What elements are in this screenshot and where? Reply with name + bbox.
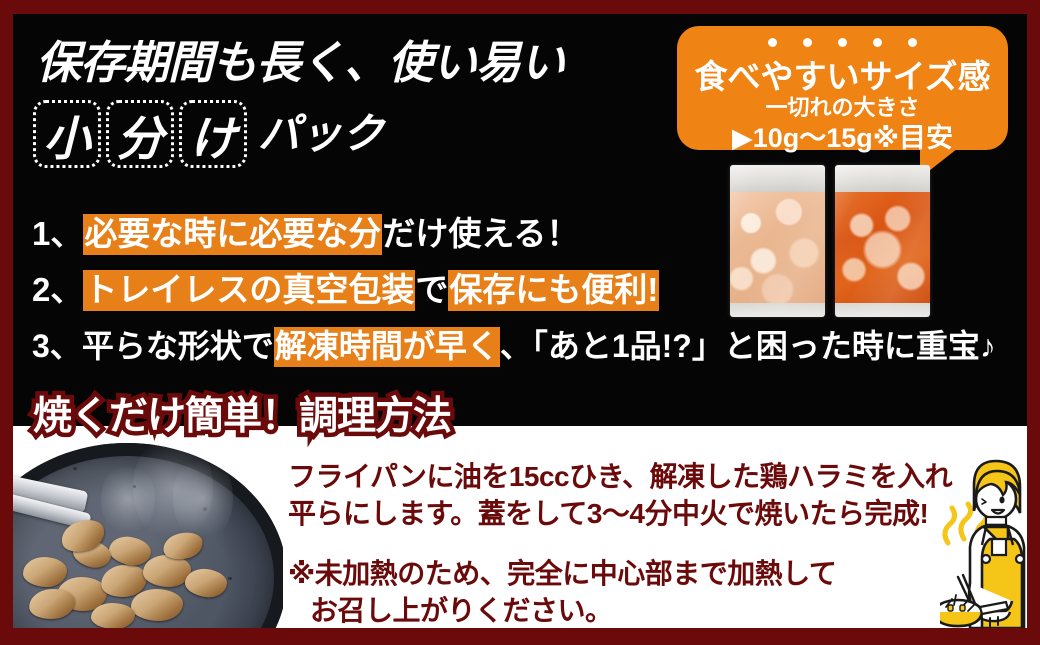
- frame-border-top: [0, 0, 1040, 14]
- bubble-decorative-dots: [677, 38, 1008, 47]
- pan-speck: [73, 467, 77, 470]
- chicken-piece: [91, 603, 135, 628]
- vacuum-pack-spicy: [835, 165, 930, 317]
- cooking-warning-line-1: ※未加熱のため、完全に中心部まで加熱して: [288, 552, 836, 592]
- chicken-piece: [131, 589, 183, 621]
- chicken-piece: [23, 557, 67, 587]
- benefit-3-highlight: 解凍時間が早く: [274, 327, 500, 367]
- frame-border-left: [0, 0, 13, 645]
- pan-speck: [228, 577, 232, 580]
- cooking-instruction-line-2: 平らにします。蓋をして3〜4分中火で焼いたら完成!: [288, 492, 928, 532]
- benefit-2-highlight-a: トレイレスの真空包装: [83, 270, 415, 311]
- steam-wisp: [173, 453, 233, 543]
- pack-gloss-right: [835, 165, 930, 317]
- dotted-char-box-1: 小: [33, 100, 101, 168]
- pack-gloss-left: [730, 165, 825, 317]
- benefit-1-number: 1、: [32, 215, 83, 252]
- cooking-warning-line-2: お召し上がりください。: [310, 589, 613, 629]
- size-callout-bubble: 食べやすいサイズ感 一切れの大きさ ▶10g〜15g※目安: [677, 26, 1008, 150]
- pack-word-label: パック: [258, 100, 384, 168]
- product-pack-photo: [730, 165, 946, 317]
- cooking-section-heading: 焼くだけ簡単！調理方法: [33, 385, 451, 441]
- dotted-char-box-3: け: [179, 100, 247, 168]
- benefit-3-tail: 、「あと1品!?」と困った時に重宝♪: [500, 328, 996, 364]
- chicken-piece: [143, 555, 191, 587]
- frying-pan-photo: [13, 437, 283, 628]
- dotted-char-box-2: 分: [106, 100, 174, 168]
- benefit-item-2: 2、トレイレスの真空包装で保存にも便利!: [32, 263, 659, 311]
- benefit-2-number: 2、: [32, 271, 83, 308]
- benefit-1-highlight: 必要な時に必要な分: [83, 214, 382, 255]
- benefit-2-mid: で: [415, 271, 448, 308]
- woman-cooking-illustration: [940, 455, 1032, 628]
- benefit-item-1: 1、必要な時に必要な分だけ使える！: [32, 207, 579, 255]
- advertisement-panel: 保存期間も長く、使い易い 小 分 け パック 1、必要な時に必要な分だけ使える！…: [0, 0, 1040, 645]
- benefit-item-3: 3、平らな形状で解凍時間が早く、「あと1品!?」と困った時に重宝♪: [32, 321, 996, 367]
- benefit-1-tail: だけ使える！: [382, 215, 579, 252]
- steam-wisp: [101, 461, 155, 537]
- bubble-weight-note: ▶10g〜15g※目安: [677, 116, 1008, 155]
- benefit-2-highlight-b: 保存にも便利!: [448, 270, 659, 311]
- frame-border-bottom: [0, 628, 1040, 645]
- benefit-3-number: 3、: [32, 328, 82, 364]
- page-title: 保存期間も長く、使い易い: [36, 26, 564, 91]
- benefit-3-lead: 平らな形状で: [82, 328, 274, 364]
- kobunke-pack-row: 小 分 け パック: [33, 100, 384, 168]
- vacuum-pack-salt: [730, 165, 825, 317]
- cooking-instruction-line-1: フライパンに油を15ccひき、解凍した鶏ハラミを入れ: [288, 455, 952, 495]
